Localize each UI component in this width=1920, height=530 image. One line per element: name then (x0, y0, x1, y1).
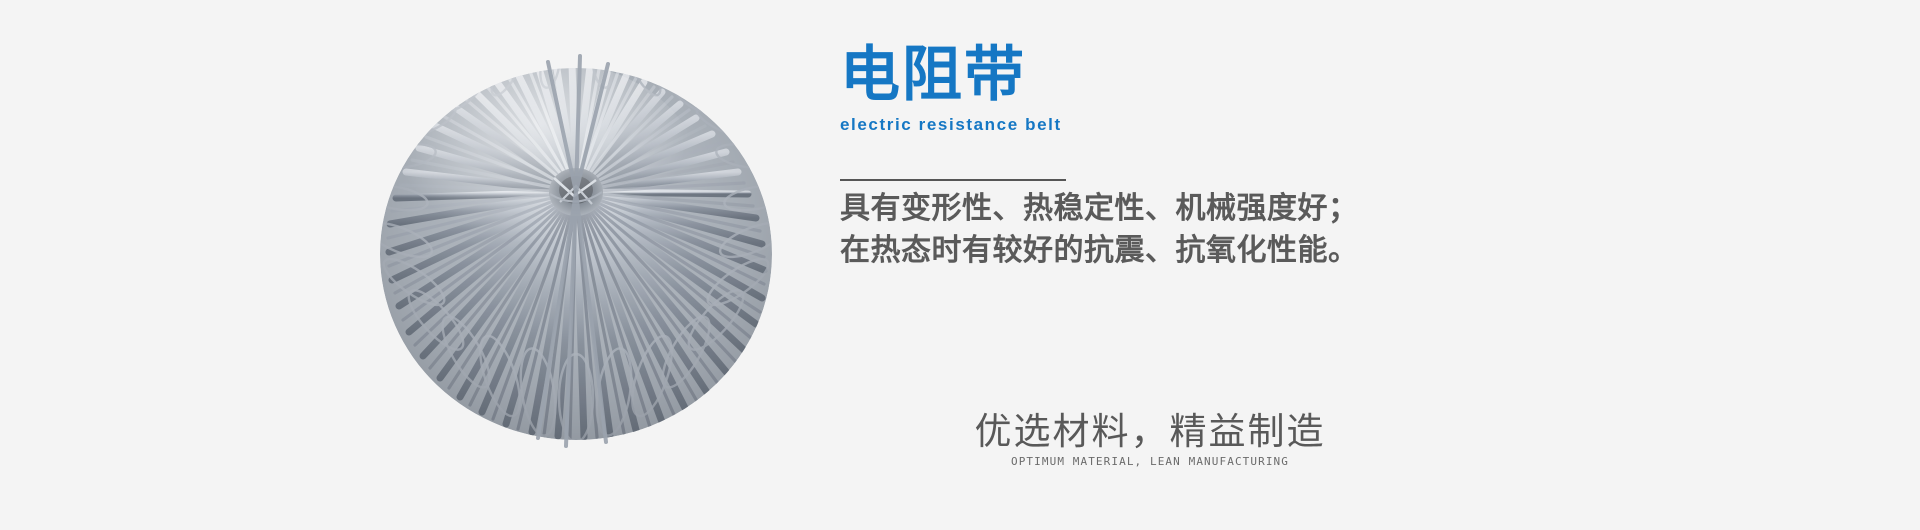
product-banner: 电阻带 electric resistance belt 具有变形性、热稳定性、… (0, 0, 1920, 530)
title-divider (840, 179, 1066, 181)
slogan-block: 优选材料，精益制造 OPTIMUM MATERIAL, LEAN MANUFAC… (900, 410, 1400, 469)
resistance-belt-coil-photo (352, 42, 800, 462)
slogan-chinese: 优选材料，精益制造 (900, 410, 1400, 454)
title-block: 电阻带 electric resistance belt (840, 44, 1460, 135)
product-image (352, 42, 800, 462)
description-block: 具有变形性、热稳定性、机械强度好； 在热态时有较好的抗震、抗氧化性能。 (840, 188, 1480, 272)
page-subtitle: electric resistance belt (840, 115, 1460, 135)
description-line-1: 具有变形性、热稳定性、机械强度好； (840, 188, 1480, 230)
page-title: 电阻带 (840, 44, 1460, 106)
copy-column: 电阻带 electric resistance belt 具有变形性、热稳定性、… (840, 0, 1740, 530)
description-line-2: 在热态时有较好的抗震、抗氧化性能。 (840, 230, 1480, 272)
slogan-english: OPTIMUM MATERIAL, LEAN MANUFACTURING (900, 455, 1400, 469)
